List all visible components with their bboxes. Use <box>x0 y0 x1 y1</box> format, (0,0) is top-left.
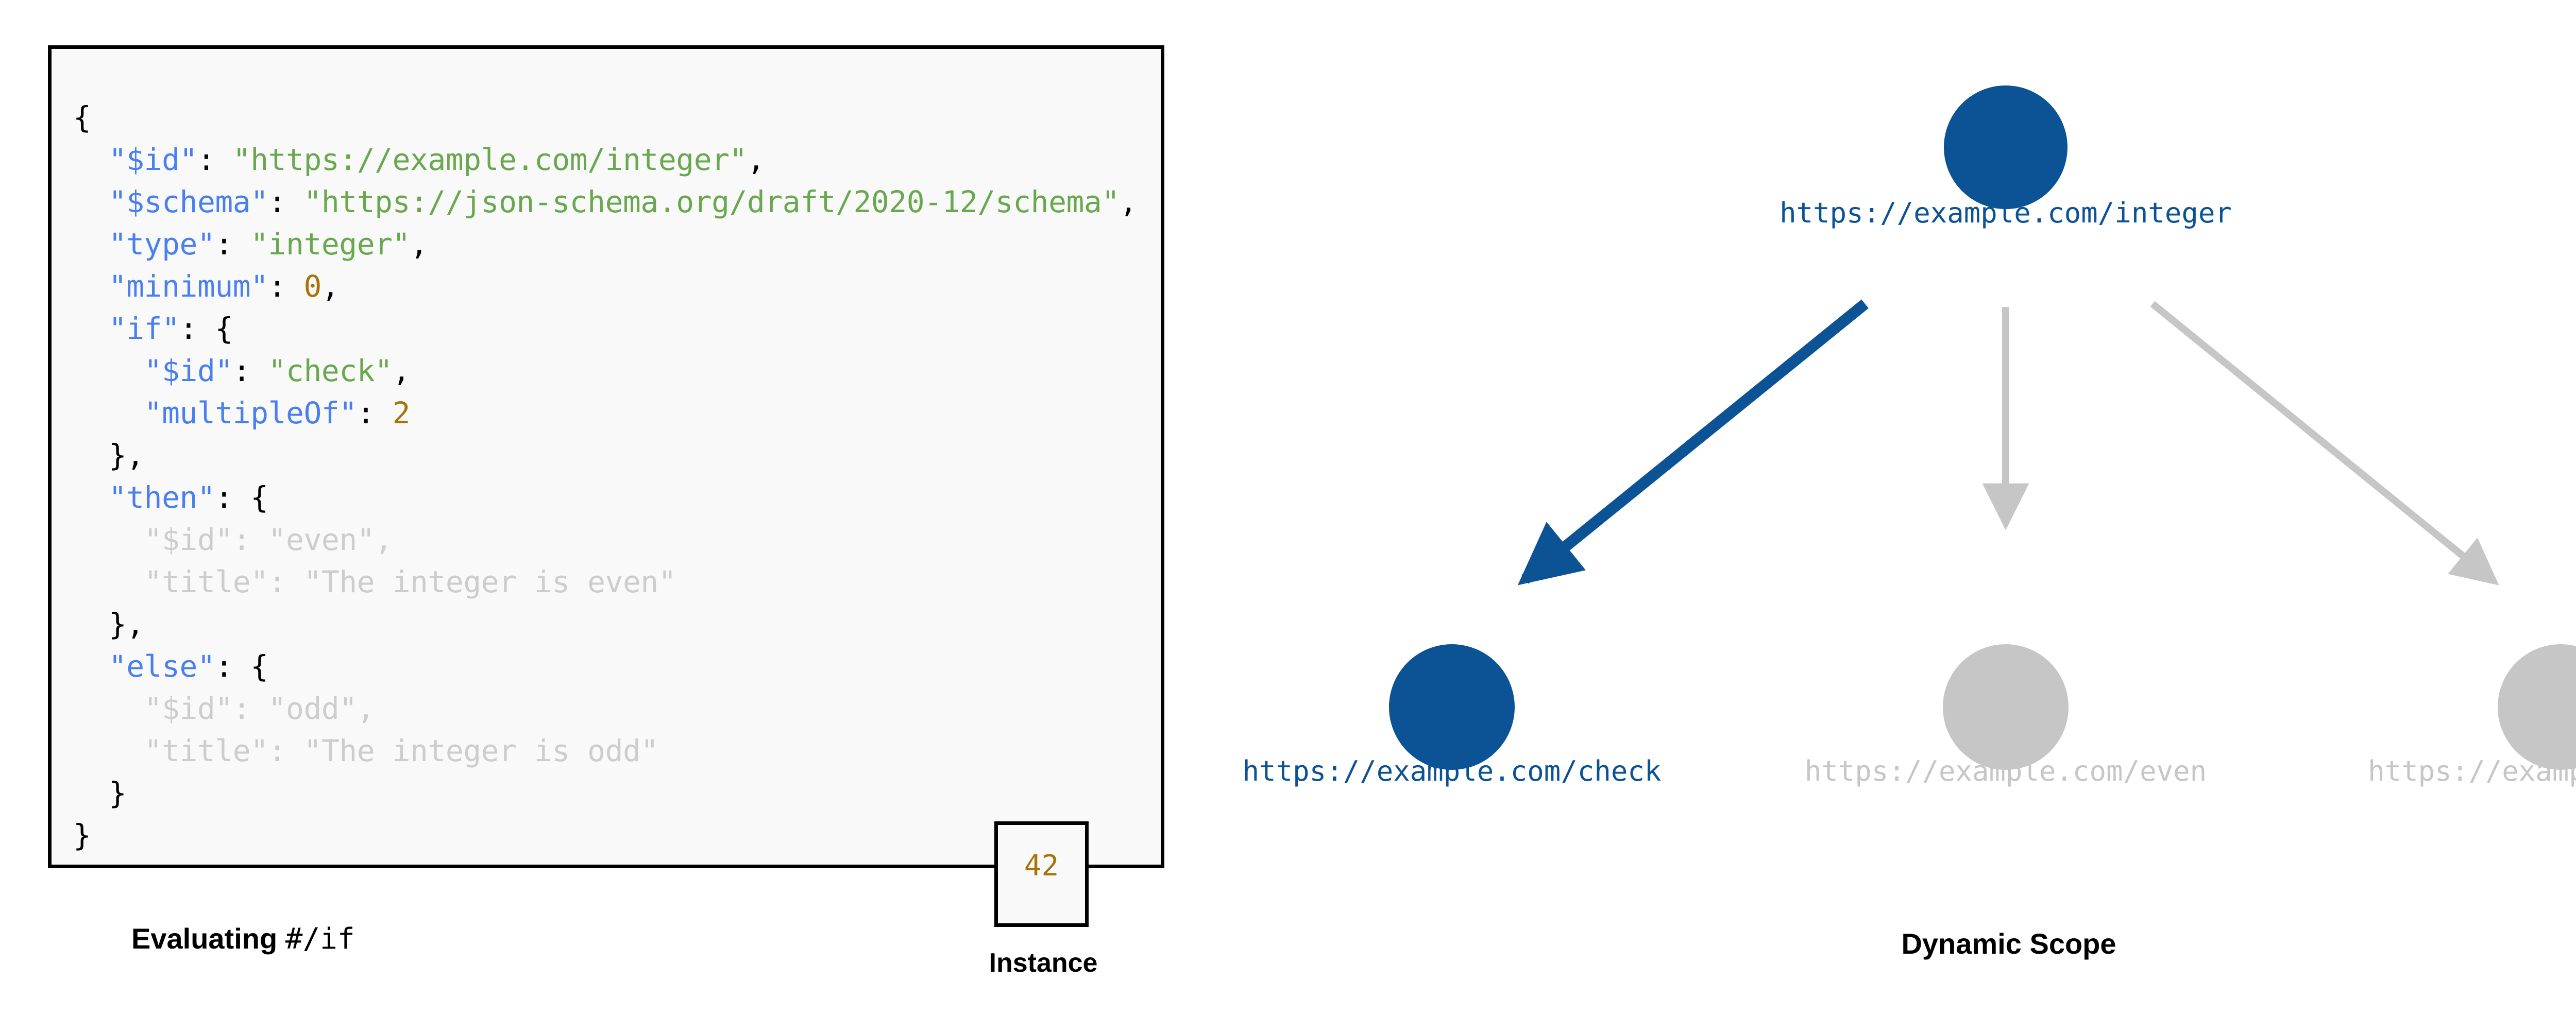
code-token: { <box>73 100 91 135</box>
code-token: : <box>268 733 304 768</box>
instance-caption: Instance <box>963 948 1123 978</box>
code-token: "even" <box>268 522 375 557</box>
code-line: "if": { <box>73 307 1137 350</box>
code-token: "odd" <box>268 691 357 726</box>
code-token: : <box>197 142 233 177</box>
code-token: , <box>1120 184 1137 219</box>
graph-node-label-even: https://example.com/even <box>1805 755 2207 787</box>
code-token <box>73 395 144 431</box>
graph-node-integer[interactable] <box>1944 85 2067 209</box>
code-token: : <box>233 691 268 726</box>
code-token: , <box>393 353 410 388</box>
code-line: "title": "The integer is odd" <box>73 730 1137 772</box>
code-token <box>73 480 109 515</box>
code-line: } <box>73 814 1137 856</box>
code-token: "$id" <box>144 353 233 388</box>
code-token: : <box>233 353 268 388</box>
code-token <box>73 184 109 219</box>
code-token: 0 <box>303 269 321 304</box>
code-token <box>73 353 144 388</box>
code-line: "$schema": "https://json-schema.org/draf… <box>73 181 1137 223</box>
schema-code-listing: { "$id": "https://example.com/integer", … <box>73 96 1137 856</box>
code-token: : { <box>215 649 268 684</box>
code-line: "$id": "https://example.com/integer", <box>73 139 1137 181</box>
code-token: "https://json-schema.org/draft/2020-12/s… <box>303 184 1119 219</box>
code-token <box>73 522 144 557</box>
code-token: }, <box>73 607 144 642</box>
instance-value-text: 42 <box>1024 849 1059 883</box>
code-line: "$id": "odd", <box>73 687 1137 730</box>
graph-edge-integer-to-check <box>1525 304 1865 579</box>
code-line: } <box>73 772 1137 814</box>
graph-node-label-odd: https://example.com/odd <box>2368 755 2576 787</box>
code-token: : <box>268 564 304 599</box>
graph-edge-integer-to-odd <box>2153 304 2494 581</box>
node-layer <box>1389 85 2576 770</box>
code-line: "type": "integer", <box>73 223 1137 265</box>
code-line: "multipleOf": 2 <box>73 392 1137 434</box>
code-token: "The integer is odd" <box>303 733 658 768</box>
instance-value-box: 42 <box>994 821 1089 927</box>
code-token: "$id" <box>144 522 233 557</box>
code-token: 2 <box>393 395 410 431</box>
graph-node-label-integer: https://example.com/integer <box>1780 197 2232 229</box>
graph-node-odd[interactable] <box>2498 644 2576 770</box>
code-token <box>73 733 144 768</box>
dynamic-scope-caption: Dynamic Scope <box>1185 927 2576 960</box>
code-token: : { <box>215 480 268 515</box>
code-line: "$id": "check", <box>73 350 1137 392</box>
code-token <box>73 227 109 262</box>
evaluating-caption-pointer: #/if <box>285 922 355 956</box>
code-token: "$id" <box>109 142 197 177</box>
code-line: "title": "The integer is even" <box>73 561 1137 603</box>
code-token: "minimum" <box>109 269 268 304</box>
code-token: : <box>357 395 393 431</box>
code-token <box>73 691 144 726</box>
code-line: "$id": "even", <box>73 519 1137 561</box>
code-token: "The integer is even" <box>303 564 676 599</box>
code-token: : <box>268 184 304 219</box>
code-token <box>73 649 109 684</box>
graph-node-even[interactable] <box>1943 644 2069 770</box>
code-token: } <box>73 818 91 853</box>
code-token: , <box>357 691 375 726</box>
dynamic-scope-panel: https://example.com/integerhttps://examp… <box>1185 0 2576 1033</box>
evaluating-schema-panel: { "$id": "https://example.com/integer", … <box>0 0 1185 1033</box>
code-token <box>73 564 144 599</box>
code-token <box>73 311 109 346</box>
code-token: : <box>215 227 250 262</box>
code-token: "$schema" <box>109 184 268 219</box>
evaluating-caption: Evaluating #/if <box>131 922 355 956</box>
code-token: "if" <box>109 311 180 346</box>
code-token: "title" <box>144 733 268 768</box>
code-line: }, <box>73 603 1137 645</box>
graph-node-check[interactable] <box>1389 644 1515 770</box>
code-token: , <box>410 227 428 262</box>
code-token <box>73 142 109 177</box>
code-token: , <box>375 522 392 557</box>
evaluating-caption-prefix: Evaluating <box>131 922 285 955</box>
code-token: , <box>321 269 339 304</box>
code-token: "$id" <box>144 691 233 726</box>
code-token: : <box>268 269 304 304</box>
code-line: { <box>73 96 1137 139</box>
code-token: "multipleOf" <box>144 395 357 431</box>
code-token: } <box>73 776 126 811</box>
code-line: "else": { <box>73 645 1137 687</box>
code-token: , <box>747 142 765 177</box>
code-token: }, <box>73 438 144 473</box>
code-token <box>73 269 109 304</box>
code-token: "else" <box>109 649 215 684</box>
code-line: }, <box>73 434 1137 476</box>
graph-node-label-check: https://example.com/check <box>1243 755 1662 787</box>
code-token: "type" <box>109 227 215 262</box>
code-token: "title" <box>144 564 268 599</box>
code-token: : { <box>180 311 233 346</box>
code-line: "then": { <box>73 476 1137 519</box>
code-token: : <box>233 522 268 557</box>
code-line: "minimum": 0, <box>73 265 1137 307</box>
edge-layer <box>1525 304 2494 581</box>
schema-code-box: { "$id": "https://example.com/integer", … <box>48 45 1164 868</box>
dynamic-scope-graph <box>1185 0 2576 1033</box>
code-token: "integer" <box>250 227 410 262</box>
code-token: "then" <box>109 480 215 515</box>
code-token: "https://example.com/integer" <box>233 142 747 177</box>
code-token: "check" <box>268 353 393 388</box>
